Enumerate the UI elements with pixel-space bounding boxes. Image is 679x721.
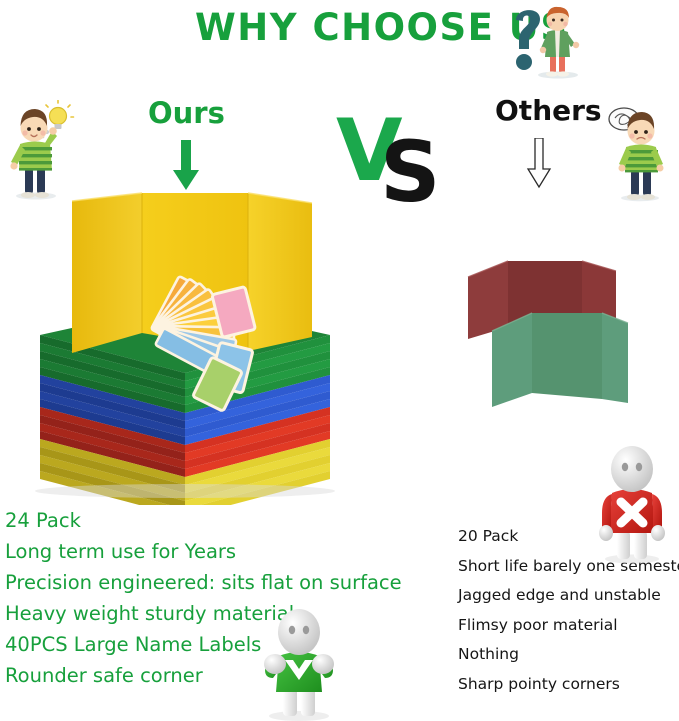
list-item: Flimsy poor material xyxy=(458,611,679,641)
list-item: Sharp pointy corners xyxy=(458,670,679,700)
outlined-down-arrow-icon xyxy=(525,138,553,190)
list-item: 24 Pack xyxy=(5,505,385,536)
confused-boy-with-scribble-thought-icon xyxy=(600,100,674,202)
3d-figure-red-x-icon xyxy=(586,437,678,565)
ours-column-label: Ours xyxy=(148,96,225,130)
question-mark-boy-icon xyxy=(498,2,588,80)
3d-figure-green-checkmark-thumbs-up-icon xyxy=(243,600,355,721)
list-item: Jagged edge and unstable xyxy=(458,581,679,611)
ours-product-illustration xyxy=(10,185,350,505)
versus-badge: V S xyxy=(336,108,448,208)
list-item: Nothing xyxy=(458,640,679,670)
list-item: Precision engineered: sits flat on surfa… xyxy=(5,567,385,598)
infographic-canvas: WHY CHOOSE US xyxy=(0,0,679,721)
versus-s-letter: S xyxy=(380,130,441,214)
list-item: Long term use for Years xyxy=(5,536,385,567)
others-product-illustration xyxy=(450,235,640,425)
others-column-label: Others xyxy=(495,94,602,127)
